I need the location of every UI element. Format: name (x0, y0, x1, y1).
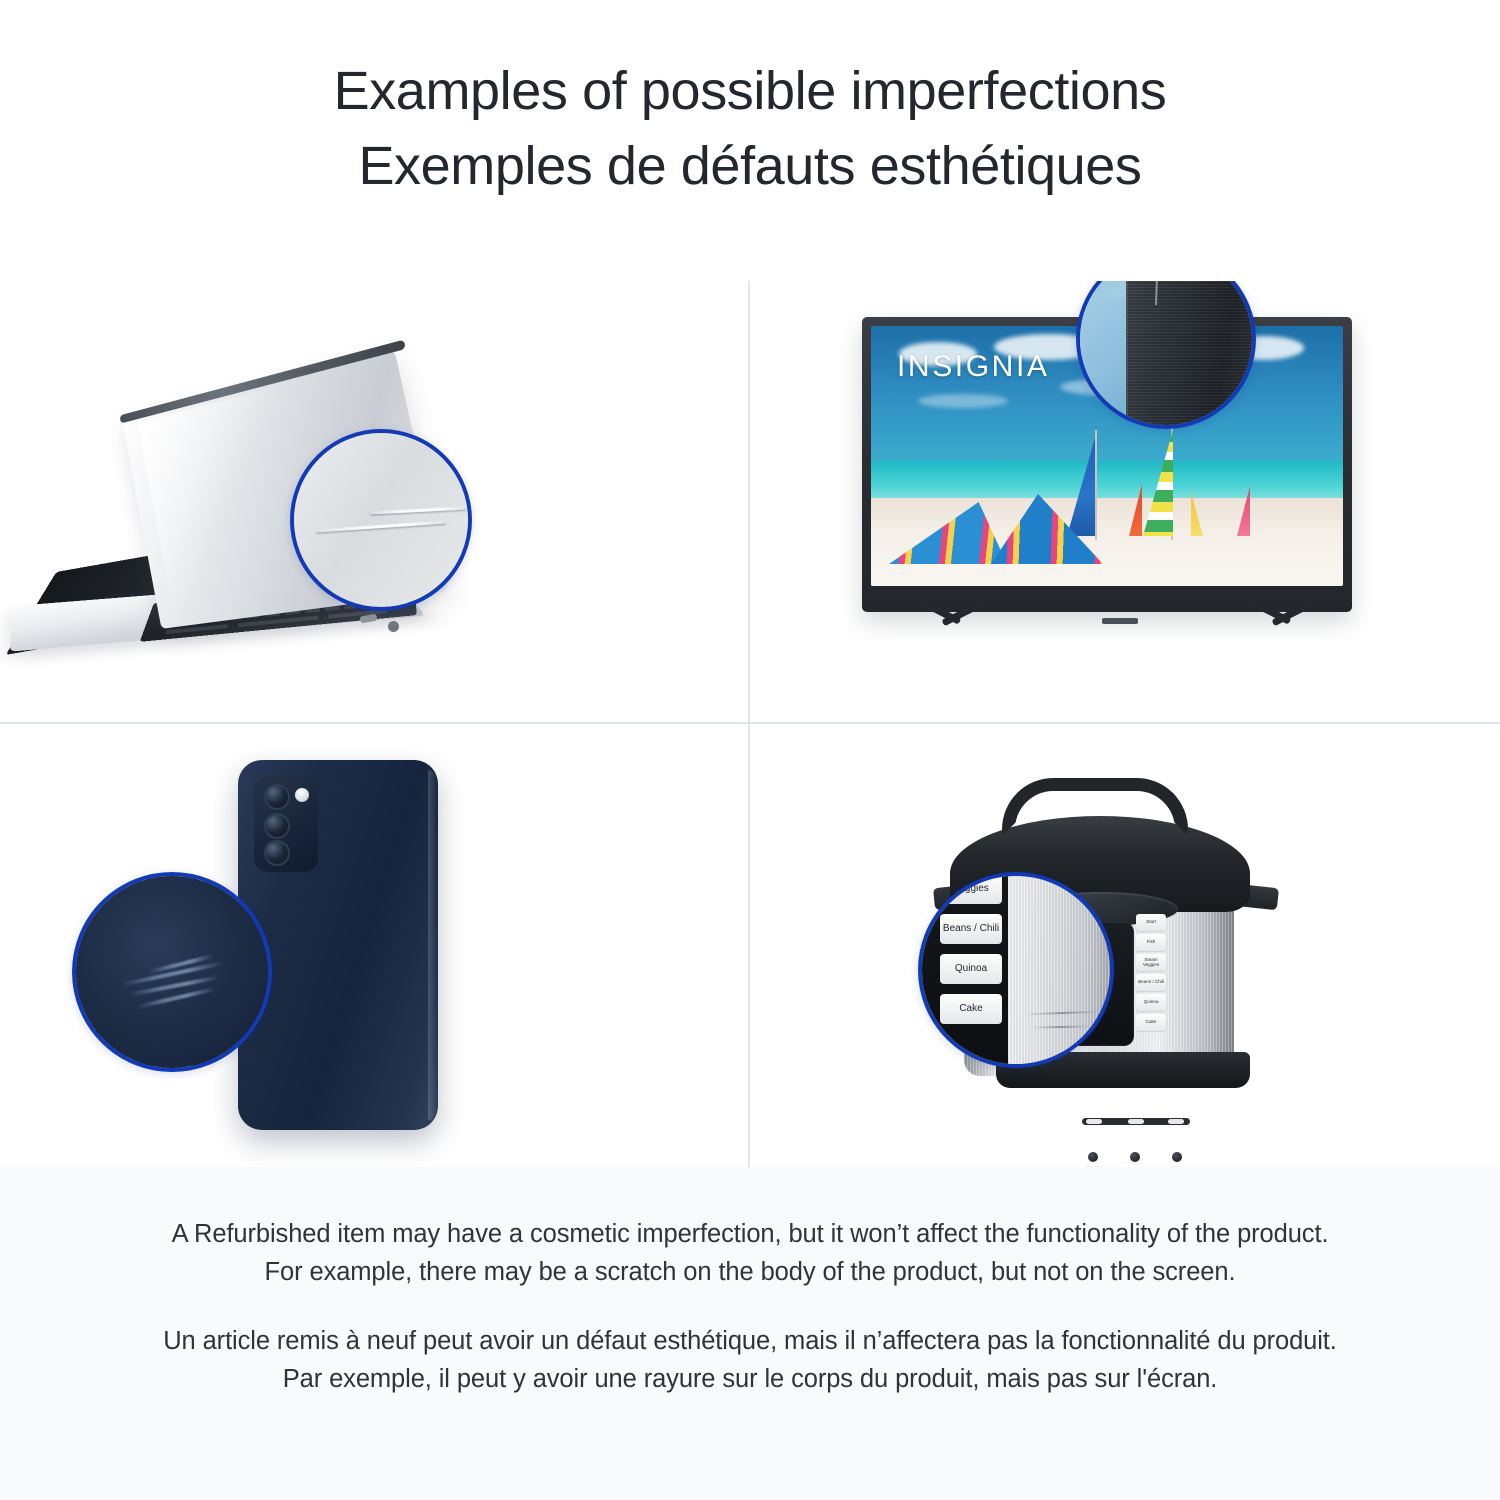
cooker-top-handle (1002, 778, 1188, 836)
tv-brand-logo: INSIGNIA (897, 350, 1050, 384)
flash-icon (295, 788, 309, 802)
cooker-button[interactable]: Fish (1136, 934, 1166, 951)
cooker-button[interactable]: Start (1136, 914, 1166, 931)
footer-description: A Refurbished item may have a cosmetic i… (0, 1167, 1500, 1500)
tv-ir-sensor (1102, 618, 1138, 624)
pressure-level-slider[interactable] (1082, 1118, 1190, 1125)
laptop-audio-jack (387, 620, 400, 633)
footer-paragraph-french: Un article remis à neuf peut avoir un dé… (150, 1322, 1350, 1399)
infographic-page: Examples of possible imperfections Exemp… (0, 0, 1500, 1500)
scratch-mark (370, 506, 466, 514)
zoomed-cooker-button: Veggies (940, 874, 1002, 904)
camera-lens-icon (264, 840, 290, 866)
title-english: Examples of possible imperfections (0, 54, 1500, 129)
example-cell-laptop (0, 281, 750, 724)
zoomed-cooker-button: Beans / Chili (940, 914, 1002, 944)
camera-module (254, 776, 318, 872)
magnifier-circle-television (1076, 281, 1256, 429)
pressure-cooker-illustration: INSIGNIA 8:00 Manual KeepWarm (750, 724, 1500, 1167)
phone-side-edge (428, 770, 436, 1120)
examples-grid: INSIGNIA (0, 281, 1500, 1167)
zoomed-bezel-corner (1126, 281, 1256, 429)
cooker-button[interactable]: Quinoa (1136, 994, 1166, 1011)
example-cell-pressure-cooker: INSIGNIA 8:00 Manual KeepWarm (750, 724, 1500, 1167)
magnifier-circle-smartphone (72, 872, 272, 1072)
ocean (871, 461, 1343, 503)
zoomed-control-panel: Veggies Beans / Chili Quinoa Cake (918, 872, 1008, 1068)
cooker-button[interactable]: Cake (1136, 1014, 1166, 1031)
zoomed-cooker-button: Cake (940, 994, 1002, 1024)
footer-paragraph-english: A Refurbished item may have a cosmetic i… (150, 1215, 1350, 1292)
title-french: Exemples de défauts esthétiques (0, 129, 1500, 204)
cooker-keypad[interactable]: Manual KeepWarm Delay Steam Pressure Slo… (1084, 1134, 1194, 1167)
magnifier-circle-laptop (290, 429, 472, 611)
cooker-button[interactable]: Steam Veggies (1136, 954, 1166, 971)
example-cell-smartphone (0, 724, 750, 1167)
television-illustration: INSIGNIA (750, 281, 1500, 722)
camera-lens-icon (264, 813, 290, 839)
scratch-mark (316, 520, 446, 532)
zoomed-cooker-button: Quinoa (940, 954, 1002, 984)
example-cell-television: INSIGNIA (750, 281, 1500, 724)
smartphone-illustration (0, 724, 748, 1167)
laptop-usb-port (360, 614, 378, 624)
cooker-buttons-right[interactable]: Start Fish Steam Veggies Beans / Chili Q… (1136, 914, 1166, 1031)
camera-lens-icon (264, 784, 290, 810)
page-title: Examples of possible imperfections Exemp… (0, 0, 1500, 219)
laptop-illustration (0, 281, 748, 722)
cooker-button[interactable]: Beans / Chili (1136, 974, 1166, 991)
magnifier-circle-pressure-cooker: Veggies Beans / Chili Quinoa Cake (918, 872, 1114, 1068)
